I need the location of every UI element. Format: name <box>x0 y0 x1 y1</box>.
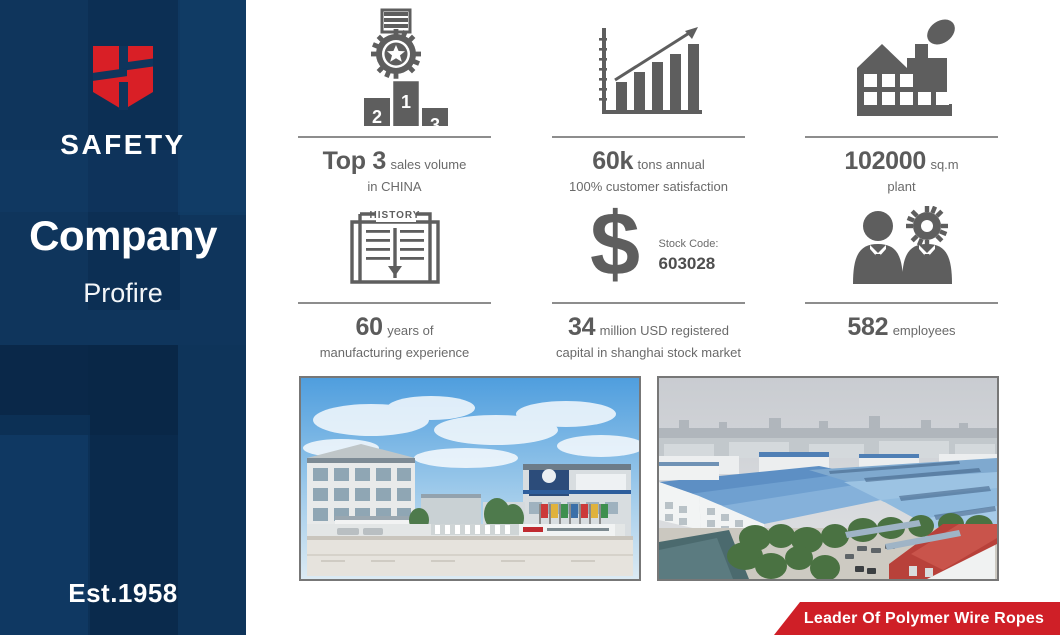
svg-text:2: 2 <box>371 107 381 126</box>
stat-text: 34 million USD registered capital in sha… <box>552 304 745 362</box>
stat-sub: manufacturing experience <box>298 345 491 361</box>
dollar-sign-icon: $ <box>579 201 651 292</box>
brand-logo: SAFETY <box>0 38 246 161</box>
stat-value: 34 <box>568 313 595 341</box>
stat-card-capital: $ Stock Code: 603028 34 million USD regi… <box>552 206 745 362</box>
stat-unit: sq.m <box>930 157 958 172</box>
stat-text: 102000 sq.m plant <box>805 138 998 196</box>
established-year: Est.1958 <box>0 578 246 609</box>
svg-text:$: $ <box>590 201 640 287</box>
stat-sub: capital in shanghai stock market <box>552 345 745 361</box>
stat-unit: sales volume <box>390 157 466 172</box>
stats-row-1: 2 1 3 Top 3 sales volume in CHINA <box>286 8 1021 206</box>
stat-sub: plant <box>805 179 998 195</box>
stat-card-employees: 582 employees <box>805 206 998 345</box>
factory-icon <box>805 8 998 126</box>
stat-value: 582 <box>847 313 888 341</box>
page-subtitle: Profire <box>0 278 246 309</box>
factory-aerial-photo <box>657 376 999 581</box>
stock-code-block: Stock Code: 603028 <box>659 219 719 275</box>
stat-value: 102000 <box>844 147 926 175</box>
dollar-stock-group: $ Stock Code: 603028 <box>552 206 745 292</box>
left-panel-content: SAFETY Company Profire Est.1958 <box>0 0 246 635</box>
svg-text:1: 1 <box>400 92 410 112</box>
stats-row-2: HISTORY <box>286 206 1021 364</box>
stat-unit: tons annual <box>638 157 705 172</box>
stat-sub: in CHINA <box>298 179 491 195</box>
stat-text: 582 employees <box>805 304 998 343</box>
stat-card-years: HISTORY <box>298 206 491 362</box>
stat-unit: years of <box>387 323 433 338</box>
stat-text: Top 3 sales volume in CHINA <box>298 138 491 196</box>
stat-text: 60k tons annual 100% customer satisfacti… <box>552 138 745 196</box>
employees-gear-icon <box>805 206 998 292</box>
stat-value: 60 <box>356 313 383 341</box>
slide-root: SAFETY Company Profire Est.1958 <box>0 0 1060 635</box>
growth-bar-chart-icon <box>552 8 745 126</box>
stat-value: 60k <box>592 147 633 175</box>
company-office-building-photo <box>299 376 641 581</box>
svg-text:3: 3 <box>429 115 439 126</box>
stat-value: Top 3 <box>323 147 386 175</box>
stat-unit: million USD registered <box>600 323 729 338</box>
stat-unit: employees <box>893 323 956 338</box>
history-book-icon: HISTORY <box>298 206 491 292</box>
safety-shield-logo-icon <box>85 38 161 119</box>
stat-sub: 100% customer satisfaction <box>552 179 745 195</box>
stock-code-label: Stock Code: <box>659 238 719 250</box>
stat-card-annual-tons: 60k tons annual 100% customer satisfacti… <box>552 8 745 196</box>
podium-medal-icon: 2 1 3 <box>298 8 491 126</box>
stat-text: 60 years of manufacturing experience <box>298 304 491 362</box>
left-panel: SAFETY Company Profire Est.1958 <box>0 0 246 635</box>
stat-card-top3: 2 1 3 Top 3 sales volume in CHINA <box>298 8 491 196</box>
tagline-banner: Leader Of Polymer Wire Ropes <box>774 602 1060 635</box>
dollar-box: $ Stock Code: 603028 <box>579 201 719 292</box>
stats-grid: 2 1 3 Top 3 sales volume in CHINA <box>286 8 1021 363</box>
svg-text:HISTORY: HISTORY <box>369 210 420 221</box>
brand-name: SAFETY <box>0 129 246 161</box>
stat-card-plant-area: 102000 sq.m plant <box>805 8 998 196</box>
tagline-text: Leader Of Polymer Wire Ropes <box>790 610 1044 628</box>
page-title: Company <box>0 212 246 260</box>
stock-code-value: 603028 <box>659 254 719 274</box>
